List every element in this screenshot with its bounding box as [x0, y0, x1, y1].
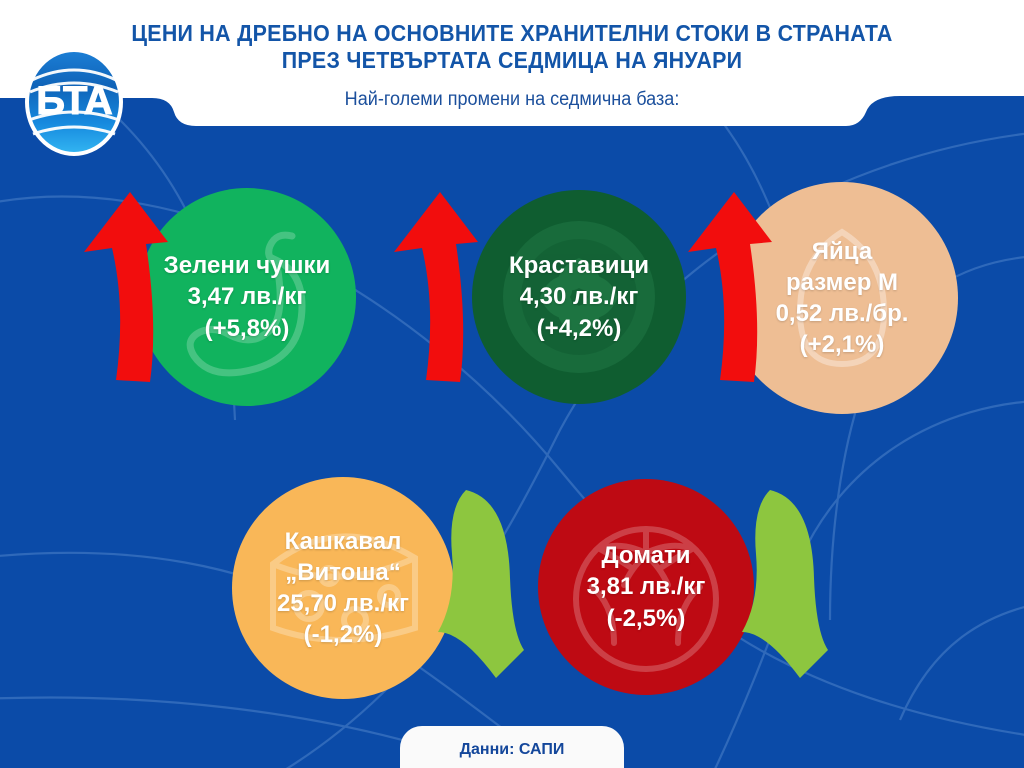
bubble-labels-green-peppers: Зелени чушки 3,47 лв./кг (+5,8%) — [156, 250, 339, 344]
bubble-product-name: Зелени чушки — [164, 250, 331, 281]
bubble-product-name: Краставици — [509, 250, 649, 281]
bubble-product-name: Яйца размер М — [776, 236, 909, 298]
bubble-product-price: 3,47 лв./кг — [164, 281, 331, 312]
infographic-canvas: ЦЕНИ НА ДРЕБНО НА ОСНОВНИТЕ ХРАНИТЕЛНИ С… — [0, 0, 1024, 768]
bubble-product-price: 4,30 лв./кг — [509, 281, 649, 312]
data-source-label: Данни: САПИ — [460, 735, 565, 759]
svg-text:БТА: БТА — [36, 79, 112, 123]
bubble-labels-tomatoes: Домати 3,81 лв./кг (-2,5%) — [579, 540, 714, 634]
arrow-up-icon-cucumbers — [382, 176, 486, 388]
bubble-cucumbers[interactable]: Краставици 4,30 лв./кг (+4,2%) — [472, 190, 686, 404]
bubble-product-delta: (-2,5%) — [587, 603, 706, 634]
bubble-labels-cheese: Кашкавал „Витоша“ 25,70 лв./кг (-1,2%) — [269, 526, 417, 651]
bubble-product-price: 0,52 лв./бр. — [776, 298, 909, 329]
bubble-product-delta: (+2,1%) — [776, 329, 909, 360]
bubble-cheese-vitosha[interactable]: Кашкавал „Витоша“ 25,70 лв./кг (-1,2%) — [232, 477, 454, 699]
data-source-pill: Данни: САПИ — [400, 726, 624, 768]
bubble-product-delta: (-1,2%) — [277, 619, 409, 650]
bubble-green-peppers[interactable]: Зелени чушки 3,47 лв./кг (+5,8%) — [138, 188, 356, 406]
bubble-product-delta: (+5,8%) — [164, 313, 331, 344]
bubble-product-name: Домати — [587, 540, 706, 571]
header-panel-shape — [0, 0, 1024, 132]
bubble-labels-eggs: Яйца размер М 0,52 лв./бр. (+2,1%) — [768, 236, 917, 361]
bubble-labels-cucumbers: Краставици 4,30 лв./кг (+4,2%) — [501, 250, 657, 344]
bubble-product-price: 3,81 лв./кг — [587, 571, 706, 602]
bubble-product-name: Кашкавал „Витоша“ — [277, 526, 409, 588]
bta-globe-logo-icon: БТА — [18, 46, 130, 158]
bubble-product-price: 25,70 лв./кг — [277, 588, 409, 619]
bubble-eggs[interactable]: Яйца размер М 0,52 лв./бр. (+2,1%) — [726, 182, 958, 414]
bubble-product-delta: (+4,2%) — [509, 313, 649, 344]
bubble-tomatoes[interactable]: Домати 3,81 лв./кг (-2,5%) — [538, 479, 754, 695]
